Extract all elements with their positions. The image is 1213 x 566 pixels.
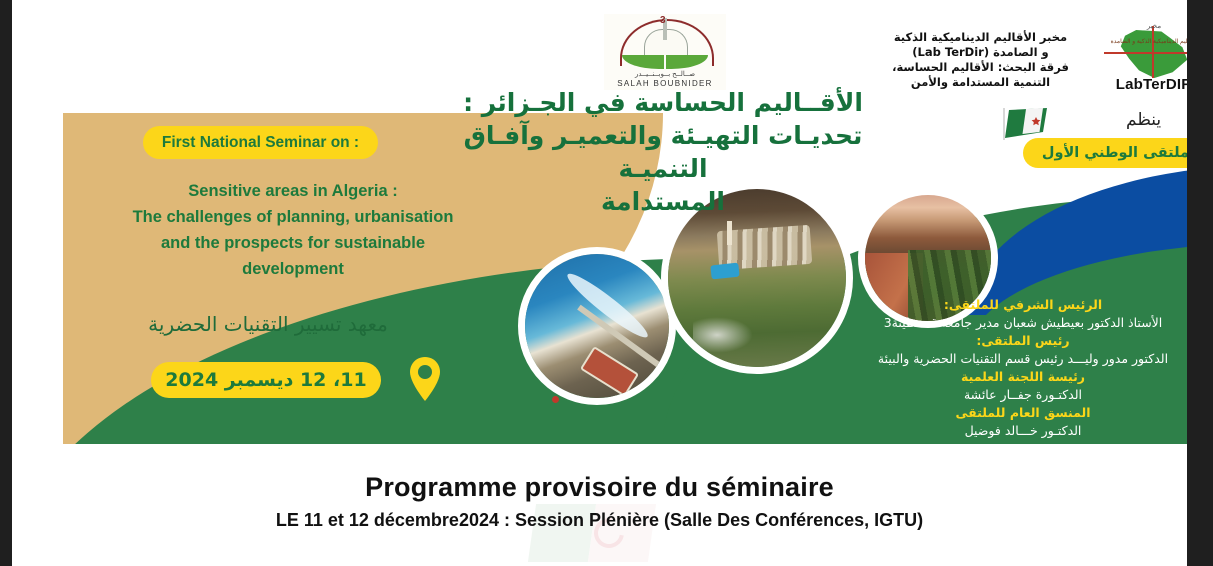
lab-line-4: التنمية المستدامة والأمن [873,75,1088,90]
screenshot-root: 3 صــالــح بــوبــنــيــدر SALAH BOUBNID… [0,0,1213,566]
algeria-flag-icon [1003,106,1051,140]
seminar-banner: 3 صــالــح بــوبــنــيــدر SALAH BOUBNID… [63,0,1187,444]
lab-line-2: و الصامدة (Lab TerDir) [873,45,1088,60]
date-badge: 11، 12 ديسمبر 2024 [151,362,381,398]
page-title: الأقــاليم الحساسة في الجـزائر : تحديـات… [453,86,873,218]
document-page: 3 صــالــح بــوبــنــيــدر SALAH BOUBNID… [12,0,1187,566]
map-vertical-line [1152,26,1154,78]
university-arabic-name: صــالــح بــوبــنــيــدر [635,71,695,79]
lab-logo-mid-caption: الأقاليم الديناميكية الذكية و الصامدة [1098,38,1187,45]
village-minaret [727,221,732,245]
university-logo: 3 صــالــح بــوبــنــيــدر SALAH BOUBNID… [604,14,726,90]
lab-logo-name: LabTerDIR [1098,76,1187,93]
village-smoke [693,317,754,353]
location-pin-icon [408,356,442,402]
committee-body-2: الدكتور مدور وليـــد رئيس قسم التقنيات ا… [853,350,1187,368]
english-line-4: development [98,256,488,282]
institute-name: معهد تسيير التقنيات الحضرية [103,312,433,336]
emblem-number: 3 [660,15,666,26]
english-line-1: Sensitive areas in Algeria : [98,178,488,204]
lab-line-1: مخبر الأقاليم الديناميكية الذكية [873,30,1088,45]
committee-heading-4: المنسق العام للملتقى [853,404,1187,422]
lab-logo-top-caption: مخبر [1098,22,1187,30]
lab-terdir-logo: مخبر الأقاليم الديناميكية الذكية و الصام… [1098,22,1187,94]
lab-line-3: فرقة البحث: الأقاليم الحساسة، [873,60,1088,75]
algeria-flag-watermark-icon [532,498,652,566]
open-book-icon [622,55,708,69]
sports-field [579,346,638,397]
map-horizontal-line [1104,52,1187,54]
coastal-photo-image [525,254,669,398]
title-line-3: المستدامة [453,185,873,218]
programme-subtitle: LE 11 et 12 décembre2024 : Session Pléni… [12,510,1187,531]
coastal-aerial-photo [518,247,676,405]
committee-heading-3: رئيسة اللجنة العلمية [853,368,1187,386]
seminar-badge: First National Seminar on : [143,126,378,159]
english-subtitle: Sensitive areas in Algeria : The challen… [98,178,488,282]
title-line-2: تحديـات التهيـئة والتعميـر وآفـاق التنمي… [453,119,873,185]
red-marker-dot [552,396,559,403]
laboratory-description: مخبر الأقاليم الديناميكية الذكية و الصام… [873,30,1088,90]
organiser-label: ينظم [1126,110,1161,130]
title-line-1: الأقــاليم الحساسة في الجـزائر : [453,86,873,119]
committee-body-1: الأستاذ الدكتور بعيطيش شعبان مدير جامعة … [853,314,1187,332]
university-emblem-icon: 3 [612,17,718,71]
programme-title: Programme provisoire du séminaire [12,472,1187,503]
committee-heading-1: الرئيس الشرفي للملتقى: [853,296,1187,314]
village-pool [710,262,740,279]
english-line-3: and the prospects for sustainable [98,230,488,256]
surf-line [562,268,652,344]
organiser-badge: الملتقى الوطني الأول [1023,138,1187,168]
english-line-2: The challenges of planning, urbanisation [98,204,488,230]
committee-block: الرئيس الشرفي للملتقى: الأستاذ الدكتور ب… [853,296,1187,440]
committee-body-4: الدكتـور خـــالد فوضيل [853,422,1187,440]
committee-body-3: الدكتـورة جفــار عائشة [853,386,1187,404]
committee-heading-2: رئيس الملتقى: [853,332,1187,350]
